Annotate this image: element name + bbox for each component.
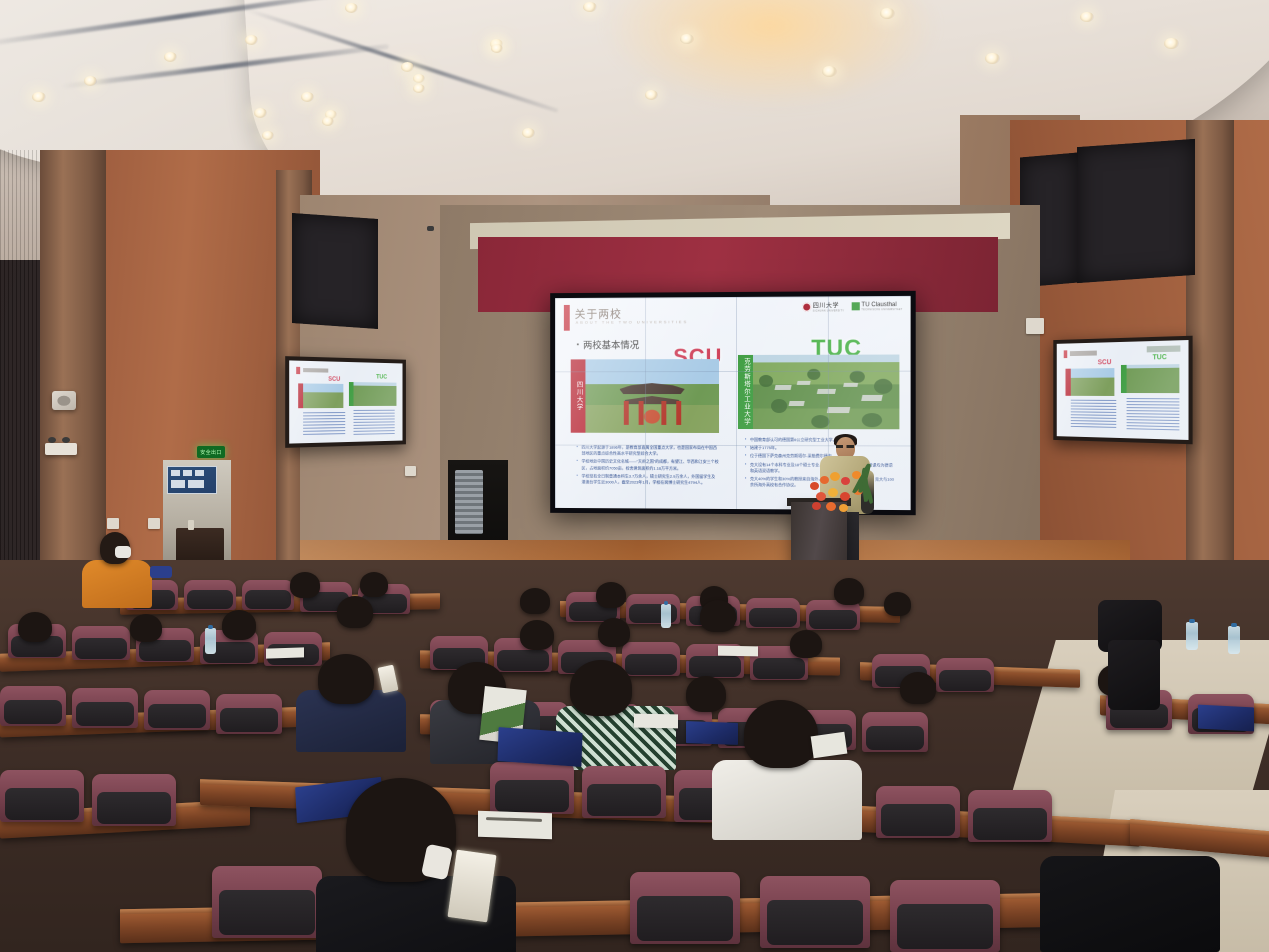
seat[interactable] — [890, 880, 1000, 952]
ceiling-downlight — [401, 62, 414, 72]
mini-right-text — [1127, 398, 1180, 431]
scu-vertical-banner: 四川大学 — [571, 359, 586, 432]
exit-sign-label: 安全出口 — [200, 449, 222, 456]
handout-paper — [266, 647, 304, 658]
tuc-campus-photo — [753, 355, 899, 430]
audience-head — [900, 672, 936, 704]
audience-head — [744, 700, 818, 768]
mini-scu-photo — [1071, 368, 1115, 396]
brochure — [497, 727, 582, 767]
slide-main-bullet: 两校基本情况 — [577, 337, 640, 351]
ceiling-downlight — [985, 53, 1000, 64]
audience-head — [290, 572, 320, 598]
ceiling-downlight — [583, 2, 597, 12]
camera-icon — [427, 226, 434, 231]
ceiling-downlight — [32, 92, 46, 102]
wall-outlet[interactable] — [107, 518, 119, 529]
ceiling-downlight — [245, 35, 258, 45]
jacket-on-seat — [1108, 640, 1160, 710]
audience-head — [596, 582, 626, 608]
ceiling-downlight — [413, 84, 425, 93]
monitor-left[interactable]: SCU TUC — [285, 356, 406, 448]
seat[interactable] — [92, 774, 176, 826]
seat[interactable] — [0, 770, 84, 822]
ceiling-downlight — [522, 128, 535, 138]
ceiling-downlight — [84, 76, 97, 86]
handout-paper — [718, 646, 758, 657]
list-item: 中国教育部认可的德国第6公立研究型工业大学。 — [745, 437, 896, 444]
seal-icon — [802, 302, 811, 311]
ceiling-downlight — [1080, 12, 1094, 22]
brochure — [1198, 705, 1254, 732]
mini-tuc-word: TUC — [1153, 354, 1167, 361]
seat[interactable] — [876, 786, 960, 838]
tuc-vertical-banner: 克劳斯塔尔工业大学 — [738, 355, 753, 429]
logo-scu-caption: SICHUAN UNIVERSITY — [813, 309, 844, 312]
audience-head — [884, 592, 911, 616]
exit-sign: 安全出口 — [197, 446, 225, 458]
ceiling-downlight — [680, 34, 694, 44]
audience-head — [834, 578, 864, 605]
notebook — [478, 811, 552, 840]
wall-speaker — [52, 391, 76, 410]
slide-subtitle: ABOUT THE TWO UNIVERSITIES — [576, 319, 689, 325]
scu-bullet-list: 四川大学起源于1896年，是教育部直属全国重点大学，也是国家布局在中国西部地区的… — [577, 445, 719, 488]
seat[interactable] — [746, 598, 800, 628]
audience-head — [520, 588, 550, 614]
scu-campus-photo — [585, 359, 719, 433]
seat[interactable] — [72, 626, 130, 660]
emergency-lamp-head — [62, 437, 70, 443]
seat[interactable] — [582, 766, 666, 818]
water-bottle — [1228, 626, 1240, 654]
seat[interactable] — [72, 688, 138, 728]
ceiling-downlight — [164, 52, 177, 62]
audience-torso-foreground — [1040, 856, 1220, 952]
ceiling-downlight — [413, 74, 425, 83]
tuc-banner-label: 克劳斯塔尔工业大学 — [740, 358, 750, 426]
ceiling-downlight — [301, 92, 314, 102]
list-item: 四川大学起源于1896年，是教育部直属全国重点大学，也是国家布局在中国西部地区的… — [577, 445, 719, 458]
person-orange-torso — [82, 560, 152, 608]
mini-logos — [1147, 345, 1181, 352]
audience-head — [700, 600, 736, 632]
seat[interactable] — [216, 694, 282, 734]
list-item: 学校现有全日制普通本科生3.7万余人，硕士研究生2.9万余人，外国留学生及港澳台… — [577, 473, 719, 486]
audience-head — [360, 572, 388, 597]
seat[interactable] — [184, 580, 236, 610]
ceiling-downlight — [345, 3, 358, 13]
audience-head — [520, 620, 554, 650]
mini-left-text — [303, 412, 345, 437]
ceiling-downlight — [262, 131, 274, 140]
ceiling-downlight — [822, 66, 837, 77]
gate-pillar — [623, 401, 628, 425]
audience-head — [130, 614, 162, 642]
mini-accent — [1064, 350, 1068, 358]
gate-roof-lower — [625, 396, 680, 404]
seat[interactable] — [760, 876, 870, 948]
audience-torso-white — [712, 760, 862, 840]
scu-banner-label: 四川大学 — [573, 381, 583, 411]
tuc-treeline — [753, 355, 899, 430]
mini-left-text — [1071, 400, 1116, 430]
mini-slide-right: SCU TUC — [1057, 340, 1189, 440]
mini-scu-photo — [303, 383, 343, 408]
mini-tuc-photo — [354, 382, 397, 406]
audience-head — [337, 596, 373, 628]
monitor-right[interactable]: SCU TUC — [1053, 336, 1192, 445]
emergency-lamp-head — [48, 437, 56, 443]
water-bottle — [661, 604, 671, 628]
mini-title — [303, 368, 328, 373]
tuc-card: 克劳斯塔尔工业大学 — [738, 355, 899, 430]
seat[interactable] — [862, 712, 928, 752]
ceiling-downlight — [1164, 38, 1179, 49]
handout-paper — [634, 714, 678, 729]
mini-tuc-photo — [1127, 364, 1180, 393]
audience-head — [18, 612, 52, 642]
handout-paper — [811, 732, 848, 759]
list-item: 学校地处中国历史文化名城——“天府之国”的成都，有望江、华西和江安三个校区，占地… — [577, 459, 719, 472]
mini-right-text — [354, 410, 395, 436]
handheld-item — [150, 566, 172, 578]
gate-pillar — [638, 401, 643, 425]
auditorium-photo: 关于两校 ABOUT THE TWO UNIVERSITIES 两校基本情况 四… — [0, 0, 1269, 952]
face-mask — [115, 546, 131, 558]
logo-scu-name: 四川大学 — [813, 300, 844, 309]
list-item: 始建于1775年。 — [745, 445, 896, 452]
logo-tuc-name: TU Clausthal — [861, 301, 902, 307]
stacked-chairs — [455, 470, 483, 534]
emergency-light — [45, 443, 77, 455]
wall-outlet[interactable] — [1026, 318, 1044, 334]
acoustic-panel-right — [1077, 139, 1195, 283]
brochure — [686, 721, 738, 745]
gate-roof — [619, 383, 684, 394]
seat[interactable] — [626, 594, 680, 624]
water-bottle — [1186, 622, 1198, 650]
ceiling-downlight — [254, 108, 267, 118]
flower-arrangement — [808, 468, 886, 520]
audience-head — [222, 610, 256, 640]
glasses-icon — [836, 445, 854, 448]
ceiling-downlight — [880, 8, 895, 19]
logo-tu-clausthal: TU Clausthal TECHNISCHE UNIVERSITAET — [851, 301, 902, 310]
audience-head — [318, 654, 374, 704]
scu-card: 四川大学 — [571, 359, 719, 433]
gate-pillar — [661, 401, 666, 425]
seat[interactable] — [242, 580, 294, 610]
mini-title — [1070, 351, 1097, 357]
audience-head — [790, 630, 822, 658]
seat[interactable] — [212, 866, 322, 938]
mini-accent — [296, 367, 300, 374]
wall-pillar-left — [40, 150, 106, 620]
water-bottle — [205, 628, 216, 654]
mini-slide-left: SCU TUC — [289, 360, 402, 443]
slide-accent-bar — [564, 305, 570, 331]
audience-head — [598, 618, 630, 647]
seat[interactable] — [622, 642, 680, 676]
noticeboard — [167, 466, 217, 494]
slide-logo-row: 四川大学 SICHUAN UNIVERSITY TU Clausthal TEC… — [802, 300, 903, 313]
seat[interactable] — [144, 690, 210, 730]
wall-outlet[interactable] — [148, 518, 160, 529]
ceiling-downlight — [645, 90, 658, 100]
seat[interactable] — [490, 762, 574, 814]
logo-sichuan-university: 四川大学 SICHUAN UNIVERSITY — [802, 300, 845, 312]
seat[interactable] — [968, 790, 1052, 842]
acoustic-panel-left — [292, 213, 378, 329]
table-item — [188, 520, 194, 530]
mini-scu-word: SCU — [328, 377, 340, 383]
ceiling-downlight — [322, 117, 334, 126]
square-icon — [851, 302, 859, 310]
monitor-left-screen: SCU TUC — [289, 360, 402, 443]
seat[interactable] — [936, 658, 994, 692]
paifang-gate-icon — [619, 383, 684, 425]
seat[interactable] — [630, 872, 740, 944]
audience-head — [686, 676, 726, 712]
mini-tuc-word: TUC — [376, 375, 387, 381]
wall-outlet[interactable] — [405, 466, 416, 476]
seat[interactable] — [0, 686, 66, 726]
audience-head — [570, 660, 632, 716]
ceiling-downlight — [491, 44, 503, 53]
mini-scu-word: SCU — [1098, 359, 1112, 366]
logo-tuc-caption: TECHNISCHE UNIVERSITAET — [861, 308, 902, 311]
gate-pillar — [676, 401, 681, 425]
monitor-right-screen: SCU TUC — [1057, 340, 1189, 440]
